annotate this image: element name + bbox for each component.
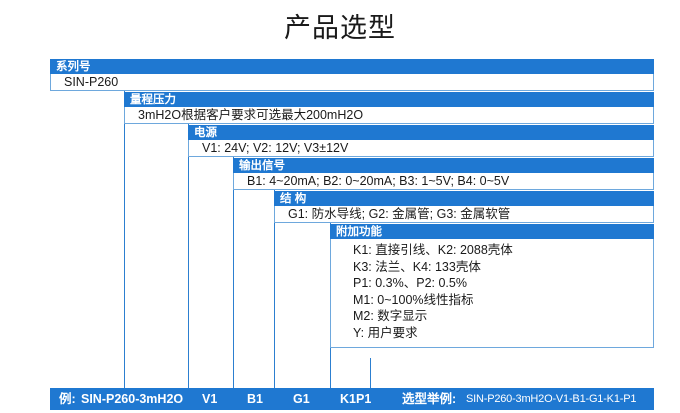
level-structure: 结 构 G1: 防水导线; G2: 金属管; G3: 金属软管: [274, 191, 654, 223]
level-structure-value: G1: 防水导线; G2: 金属管; G3: 金属软管: [274, 206, 654, 223]
level-range: 量程压力 3mH2O根据客户要求可选最大200mH2O: [124, 92, 654, 124]
level-extra: 附加功能 K1: 直接引线、K2: 2088壳体 K3: 法兰、K4: 133壳…: [330, 224, 654, 348]
level-extra-line-k1: K1: 直接引线、K2: 2088壳体: [353, 242, 653, 259]
level-power-header: 电源: [188, 125, 654, 140]
level-series-value: SIN-P260: [50, 74, 654, 91]
connector-line-extra: [370, 358, 371, 388]
example-power-code: V1: [202, 389, 217, 409]
level-range-header: 量程压力: [124, 92, 654, 107]
level-extra-header: 附加功能: [330, 224, 654, 239]
example-prefix: 例:: [59, 389, 76, 409]
level-range-value: 3mH2O根据客户要求可选最大200mH2O: [124, 107, 654, 124]
example-extra-code: K1P1: [340, 389, 371, 409]
example-output-code: B1: [247, 389, 263, 409]
example-full-code: SIN-P260-3mH2O-V1-B1-G1-K1-P1: [466, 389, 636, 409]
level-series-header: 系列号: [50, 59, 654, 74]
level-extra-value-list: K1: 直接引线、K2: 2088壳体 K3: 法兰、K4: 133壳体 P1:…: [330, 239, 654, 348]
level-output-value: B1: 4~20mA; B2: 0~20mA; B3: 1~5V; B4: 0~…: [233, 173, 654, 190]
example-bar: 例: SIN-P260-3mH2O V1 B1 G1 K1P1 选型举例: SI…: [50, 388, 654, 410]
level-extra-line-k3: K3: 法兰、K4: 133壳体: [353, 259, 653, 276]
level-power-value: V1: 24V; V2: 12V; V3±12V: [188, 140, 654, 157]
level-output: 输出信号 B1: 4~20mA; B2: 0~20mA; B3: 1~5V; B…: [233, 158, 654, 190]
example-label: 选型举例:: [402, 389, 456, 409]
level-series: 系列号 SIN-P260: [50, 59, 654, 91]
connector-line-series: [124, 90, 125, 388]
example-structure-code: G1: [293, 389, 310, 409]
level-extra-line-m2: M2: 数字显示: [353, 308, 653, 325]
level-extra-line-p1: P1: 0.3%、P2: 0.5%: [353, 275, 653, 292]
level-extra-line-y: Y: 用户要求: [353, 325, 653, 342]
product-selection-diagram: 系列号 SIN-P260 量程压力 3mH2O根据客户要求可选最大200mH2O…: [0, 0, 680, 413]
connector-line-power: [233, 156, 234, 388]
connector-line-range: [188, 123, 189, 388]
level-output-header: 输出信号: [233, 158, 654, 173]
level-extra-line-m1: M1: 0~100%线性指标: [353, 292, 653, 309]
level-structure-header: 结 构: [274, 191, 654, 206]
example-series-code: SIN-P260-3mH2O: [81, 389, 183, 409]
level-power: 电源 V1: 24V; V2: 12V; V3±12V: [188, 125, 654, 157]
